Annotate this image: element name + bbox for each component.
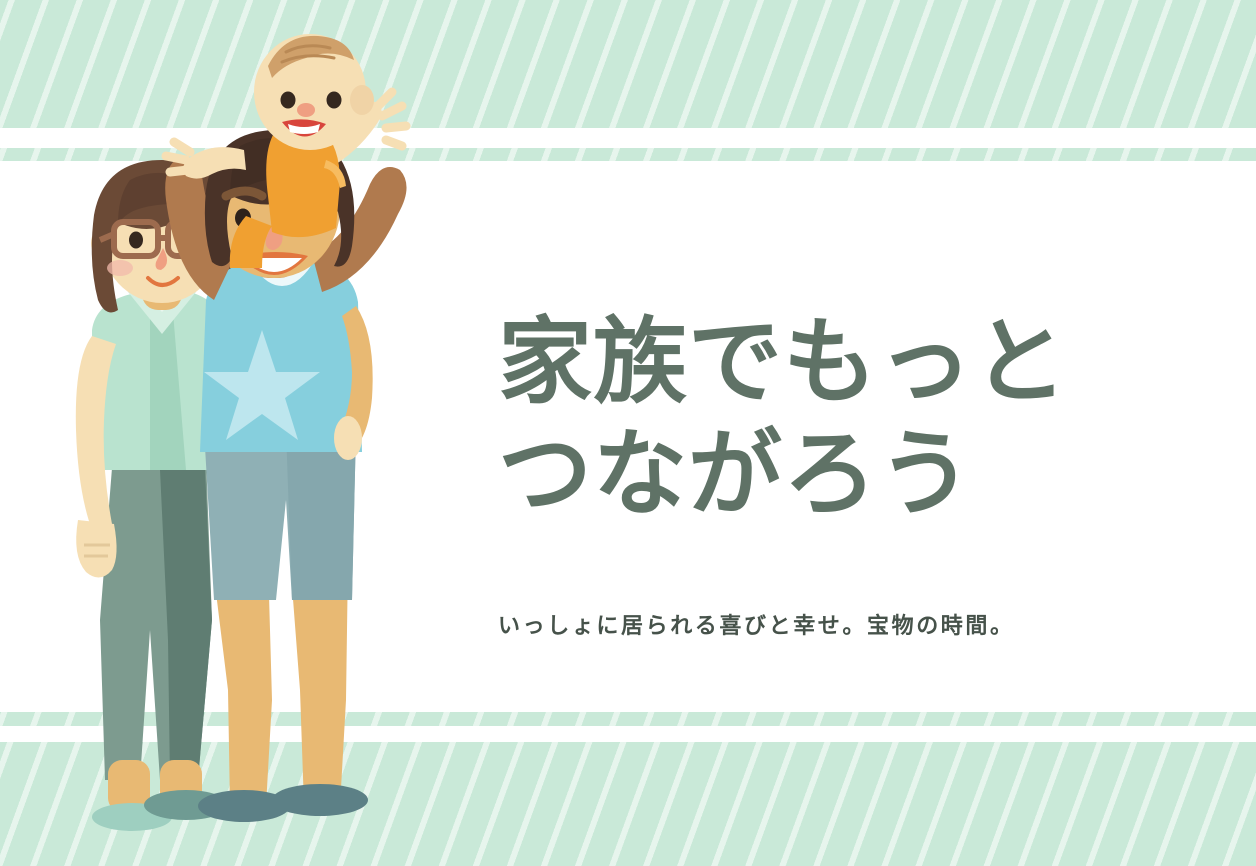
poster-canvas: WHO SAYS YOU CAN'T HAVE ANOTHER SPECIAL … bbox=[0, 0, 1256, 866]
father-shoe-right bbox=[272, 784, 368, 816]
page-title: 家族でもっと つながろう bbox=[498, 306, 1068, 530]
family-illustration bbox=[0, 0, 470, 866]
subheadline-text: いっしょに居られる喜びと幸せ。宝物の時間。 bbox=[498, 608, 1015, 640]
